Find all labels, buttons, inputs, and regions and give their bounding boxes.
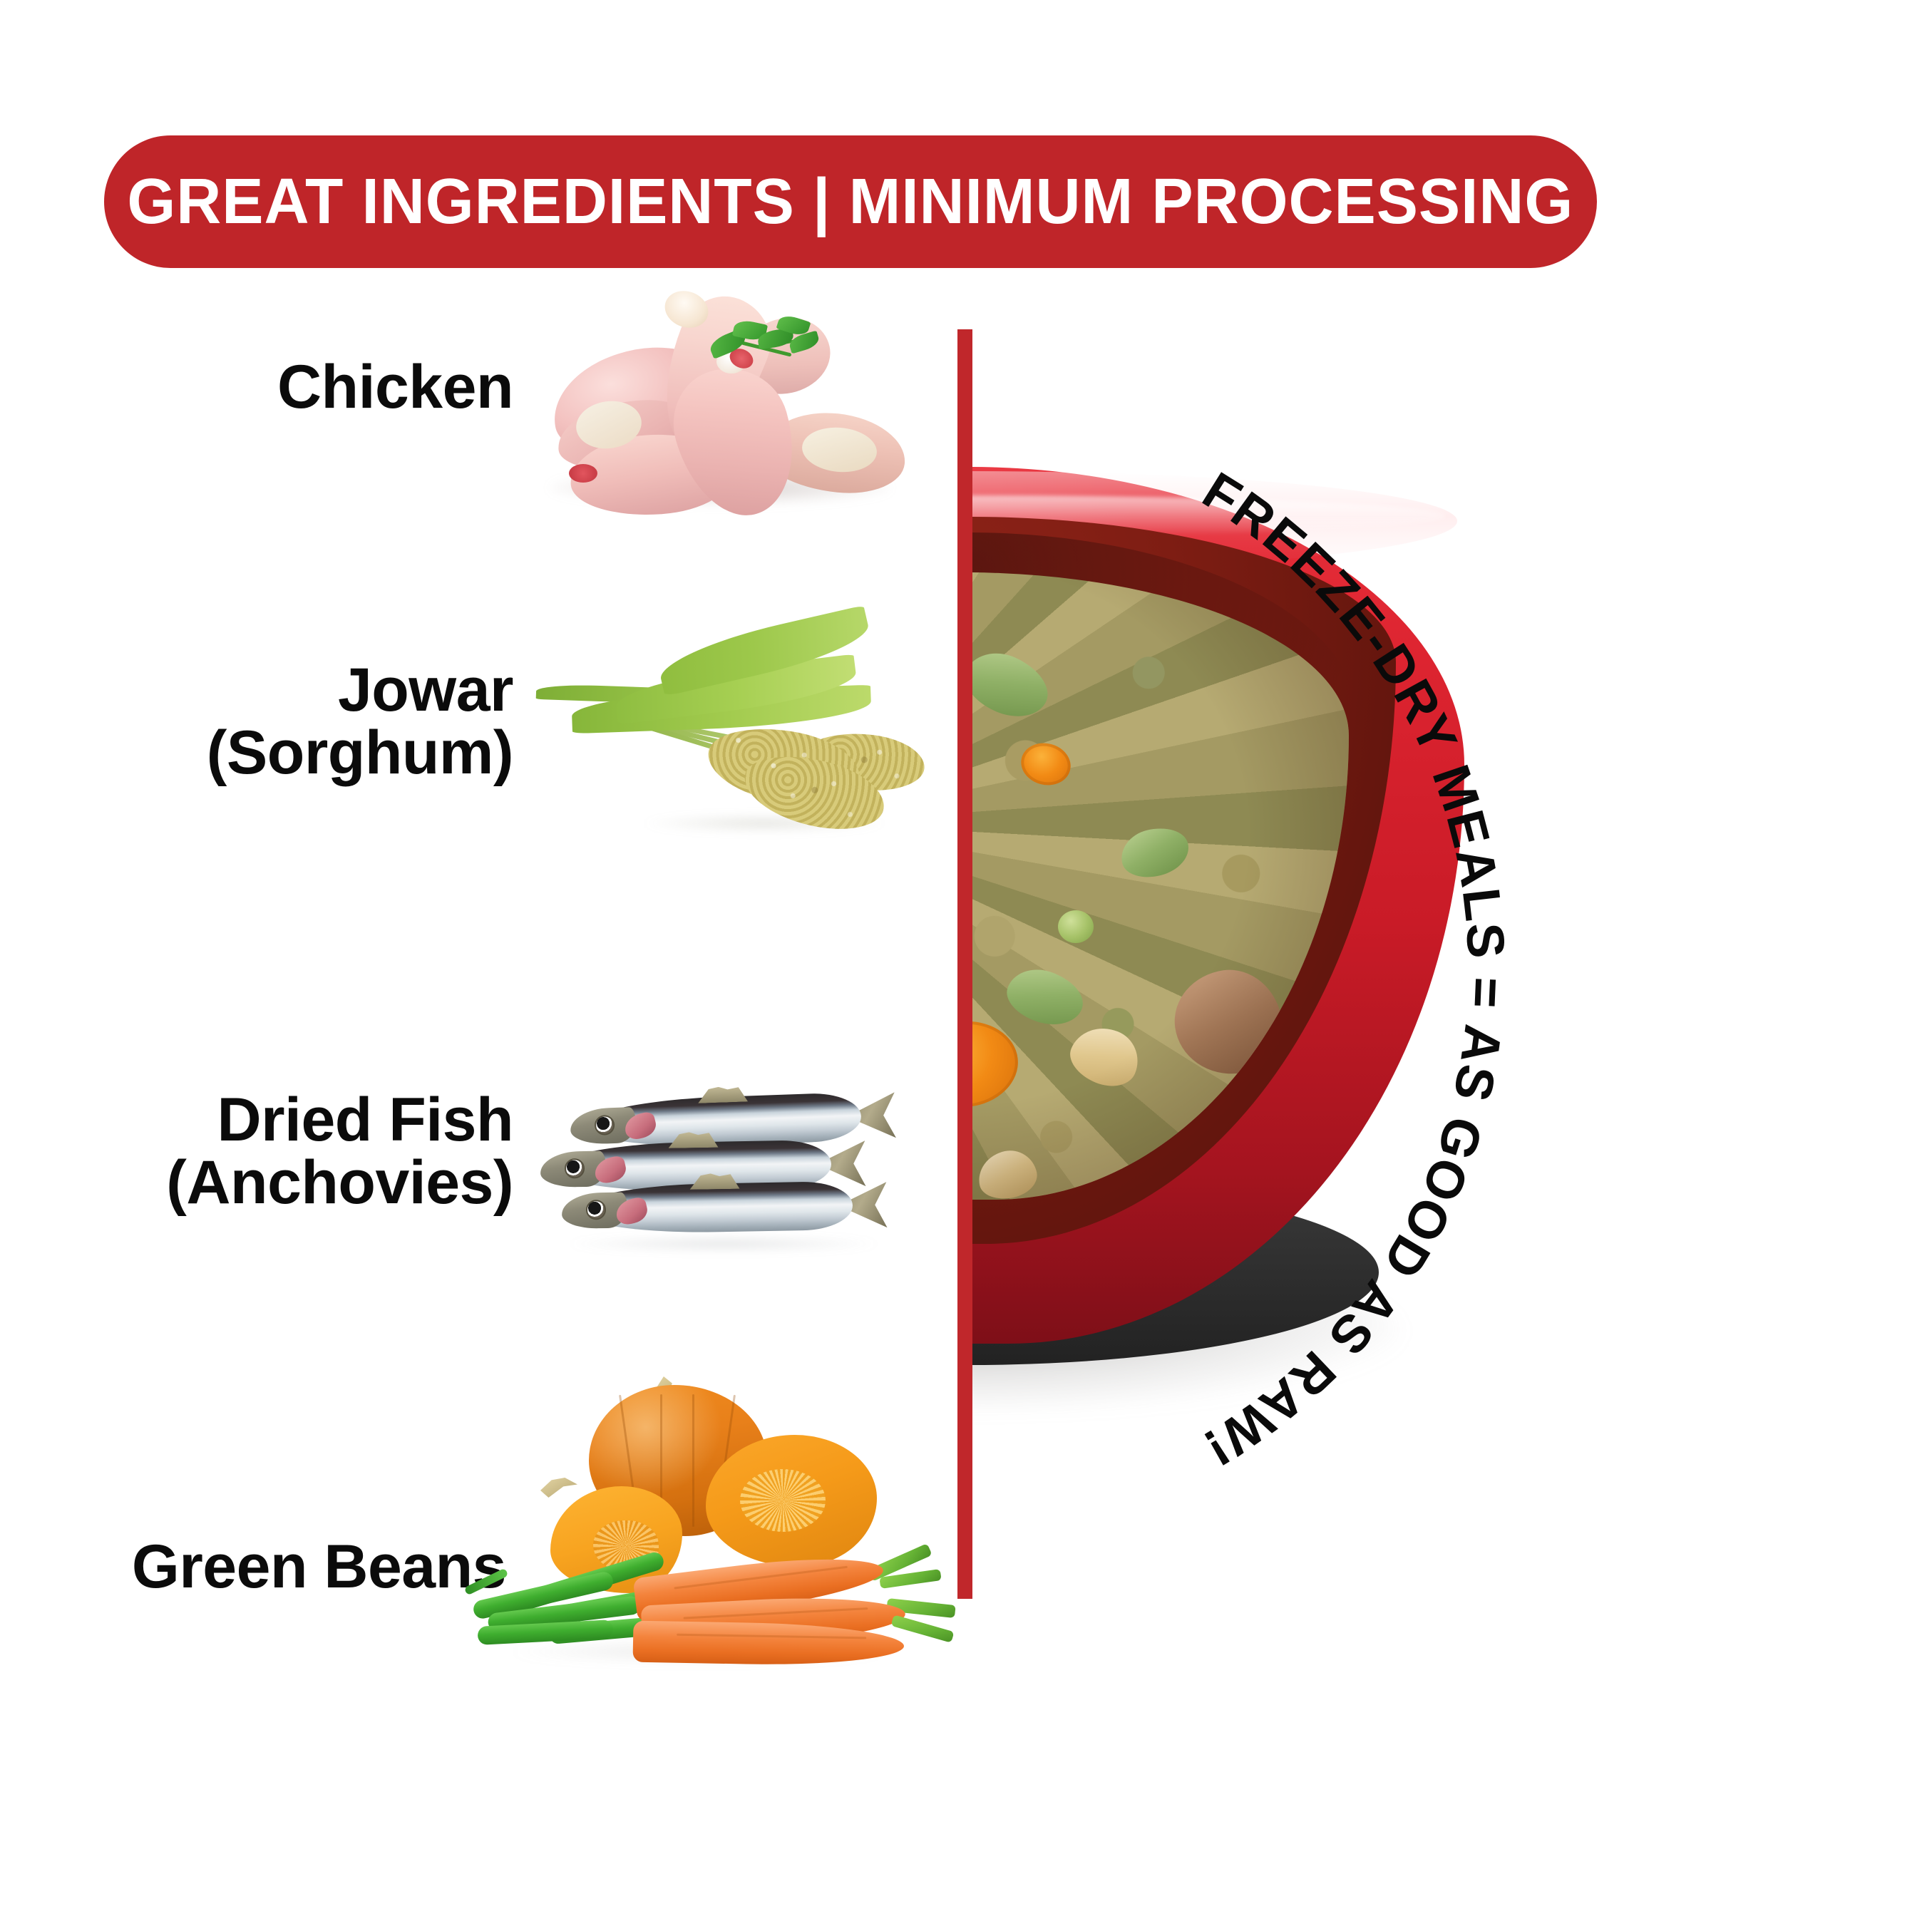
parsley-garnish — [709, 316, 823, 380]
food-green-bean-piece-4 — [972, 642, 1057, 728]
vegetables-photo — [463, 1372, 955, 1657]
ingredient-label-chicken: Chicken — [114, 356, 513, 419]
ingredient-label-chicken-line1: Chicken — [277, 353, 513, 421]
infographic-canvas: GREAT INGREDIENTS | MINIMUM PROCESSING C… — [0, 0, 1932, 1931]
green-bean-tip — [464, 1568, 509, 1596]
ingredient-label-green-beans-line1: Green Beans — [132, 1533, 506, 1601]
ingredient-label-dried-fish-line2: (Anchovies) — [78, 1152, 513, 1215]
chicken-red-accent-bottom — [569, 464, 597, 483]
header-banner-text: GREAT INGREDIENTS | MINIMUM PROCESSING — [128, 170, 1574, 234]
carrot-1-ridge — [674, 1565, 848, 1589]
chicken-photo — [528, 282, 927, 510]
carrot-3-ridge — [677, 1634, 866, 1639]
food-carrot-slice-3 — [972, 1016, 1022, 1112]
food-green-bean-piece-6 — [1001, 961, 1090, 1034]
anchovy-1-dorsal-fin — [697, 1086, 748, 1103]
ingredient-label-dried-fish-line1: Dried Fish — [217, 1086, 513, 1154]
anchovies-shadow — [570, 1236, 877, 1252]
food-green-bean-piece-7 — [1116, 821, 1193, 883]
anchovy-3 — [574, 1180, 881, 1234]
food-carrot-slice-4 — [1017, 738, 1075, 790]
sorghum-photo — [529, 627, 928, 841]
anchovies-photo — [542, 1083, 930, 1262]
pumpkin-wedge-stem — [540, 1478, 577, 1498]
vertical-divider — [957, 329, 972, 1599]
ingredient-label-dried-fish: Dried Fish (Anchovies) — [78, 1089, 513, 1214]
pumpkin-rib-3 — [692, 1394, 694, 1528]
ingredient-label-green-beans: Green Beans — [78, 1536, 506, 1599]
ingredient-label-jowar-line2: (Sorghum) — [86, 722, 513, 785]
carrot-top-4 — [890, 1615, 954, 1643]
pumpkin-half-seed-core — [740, 1469, 826, 1532]
food-seed-1 — [1063, 1018, 1147, 1095]
dog-bowl — [972, 467, 1464, 1465]
carrot-2-ridge — [684, 1607, 868, 1620]
dog-bowl-photo — [972, 467, 1464, 1465]
food-seed-2 — [974, 1145, 1041, 1200]
ingredient-label-jowar: Jowar (Sorghum) — [86, 659, 513, 784]
food-pea-3 — [1058, 910, 1094, 943]
header-banner: GREAT INGREDIENTS | MINIMUM PROCESSING — [104, 135, 1597, 268]
ingredient-label-jowar-line1: Jowar — [338, 656, 513, 724]
